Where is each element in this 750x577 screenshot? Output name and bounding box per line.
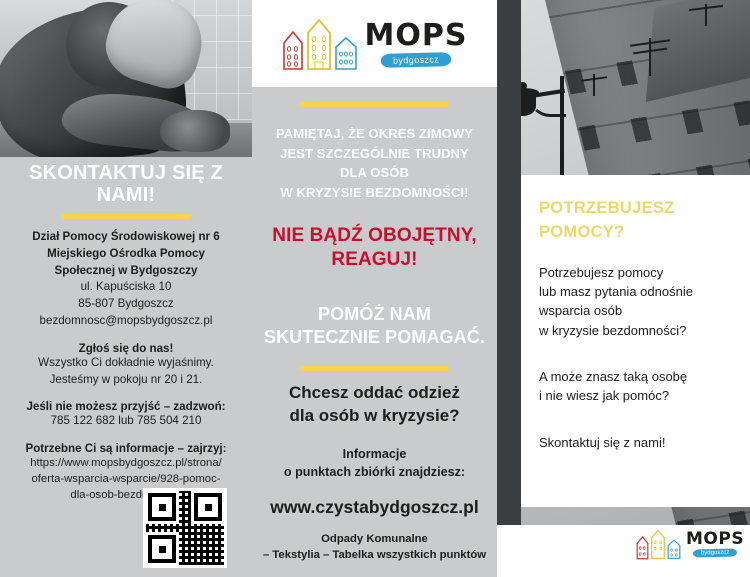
paragraph1-line-1: Potrzebujesz pomocy <box>539 263 693 282</box>
need-help-paragraph-3: Skontaktuj się z nami! <box>539 433 665 452</box>
mops-logo-bottom: MOPS bydgoszcz <box>636 528 744 560</box>
org-name-line-1: Dział Pomocy Środowiskowej nr 6 <box>0 229 252 246</box>
paragraph1-line-4: w kryzysie bezdomności? <box>539 321 693 340</box>
collection-info: Informacje o punktach zbiórki znajdziesz… <box>252 446 497 481</box>
org-name-line-2: Miejskiego Ośrodka Pomocy <box>0 246 252 263</box>
paragraph1-line-2: lub masz pytania odnośnie <box>539 282 693 301</box>
footnote-line-2: – Tekstylia – Tabelka wszystkich punktów <box>252 547 497 563</box>
house-red-icon <box>282 29 304 71</box>
qr-finder-bottom-left <box>148 535 176 563</box>
cta-line-2: REAGUJ! <box>252 248 497 272</box>
need-help-paragraph-2: A może znasz taką osobę i nie wiesz jak … <box>539 367 687 405</box>
spacer <box>0 388 252 400</box>
mops-city-banner-bottom: bydgoszcz <box>693 548 738 557</box>
clothes-donation-block: Chcesz oddać odzież dla osób w kryzysie?… <box>252 382 497 563</box>
mops-houses-icon-bottom <box>636 528 681 560</box>
cta-line-1: NIE BĄDŹ OBOJĘTNY, <box>252 224 497 248</box>
house-yellow-icon <box>305 17 333 71</box>
poster-root: SKONTAKTUJ SIĘ Z NAMI! Dział Pomocy Środ… <box>0 0 750 577</box>
footnote-line-1: Odpady Komunalne <box>252 531 497 547</box>
zglos-line-2: Jesteśmy w pokoju nr 20 i 21. <box>0 372 252 389</box>
yellow-divider-left <box>61 214 191 219</box>
org-name-line-3: Społecznej w Bydgoszczy <box>0 263 252 280</box>
address-email[interactable]: bezdomnosc@mopsbydgoszcz.pl <box>0 313 252 330</box>
mops-city-banner: bydgoszcz <box>381 52 451 68</box>
need-help-heading: POTRZEBUJESZ POMOCY? <box>539 197 675 245</box>
paragraph3-line-1: Skontaktuj się z nami! <box>539 433 665 452</box>
house-yellow-icon <box>650 528 666 560</box>
collection-info-line-1: Informacje <box>252 446 497 464</box>
photo-frame-left-bar <box>497 0 521 525</box>
mops-wordmark: MOPS <box>365 21 468 51</box>
reminder-text: PAMIĘTAJ, ŻE OKRES ZIMOWY JEST SZCZEGÓLN… <box>252 124 497 202</box>
help-line-2: SKUTECZNIE POMAGAĆ. <box>252 326 497 349</box>
need-help-heading-line-2: POMOCY? <box>539 221 675 245</box>
spacer <box>0 330 252 342</box>
clothes-heading: Chcesz oddać odzież dla osób w kryzysie? <box>252 382 497 428</box>
call-to-action-text: NIE BĄDŹ OBOJĘTNY, REAGUJ! <box>252 224 497 273</box>
house-blue-icon <box>334 35 358 71</box>
mops-wordmark-group: MOPS bydgoszcz <box>365 21 468 67</box>
house-blue-icon <box>667 538 681 560</box>
reminder-line-1: PAMIĘTAJ, ŻE OKRES ZIMOWY <box>252 124 497 144</box>
yellow-divider-center-bottom <box>299 366 449 371</box>
paragraph2-line-2: i nie wiesz jak pomóc? <box>539 386 687 405</box>
mops-wordmark-bottom: MOPS <box>686 531 744 548</box>
collection-info-line-2: o punktach zbiórki znajdziesz: <box>252 464 497 482</box>
qr-code[interactable] <box>143 488 227 568</box>
help-info-card: POTRZEBUJESZ POMOCY? Potrzebujesz pomocy… <box>521 175 750 507</box>
url-line-2[interactable]: oferta-wsparcia-wsparcie/928-pomoc- <box>0 471 252 487</box>
zglos-line-1: Wszystko Ci dokładnie wyjaśnimy. <box>0 355 252 372</box>
clothes-heading-line-1: Chcesz oddać odzież <box>252 382 497 405</box>
zglos-heading: Zgłoś się do nas! <box>0 342 252 355</box>
mops-wordmark-group-bottom: MOPS bydgoszcz <box>686 531 744 557</box>
czysta-bydgoszcz-website[interactable]: www.czystabydgoszcz.pl <box>252 497 497 518</box>
clothes-heading-line-2: dla osób w kryzysie? <box>252 405 497 428</box>
reminder-line-2: JEST SZCZEGÓLNIE TRUDNY <box>252 144 497 164</box>
paragraph1-line-3: wsparcia osób <box>539 301 693 320</box>
need-help-heading-line-1: POTRZEBUJESZ <box>539 197 675 221</box>
phone-numbers[interactable]: 785 122 682 lub 785 504 210 <box>0 413 252 430</box>
contact-heading: SKONTAKTUJ SIĘ Z NAMI! <box>0 162 252 206</box>
help-line-1: POMÓŻ NAM <box>252 303 497 326</box>
reminder-line-3: DLA OSÓB <box>252 163 497 183</box>
left-column: SKONTAKTUJ SIĘ Z NAMI! Dział Pomocy Środ… <box>0 0 252 577</box>
paragraph2-line-1: A może znasz taką osobę <box>539 367 687 386</box>
center-message-block: PAMIĘTAJ, ŻE OKRES ZIMOWY JEST SZCZEGÓLN… <box>252 124 497 349</box>
house-red-icon <box>636 535 649 560</box>
address-street: ul. Kapuściska 10 <box>0 279 252 296</box>
reminder-line-4: W KRYZYSIE BEZDOMNOŚCI! <box>252 183 497 203</box>
info-heading: Potrzebne Ci są informacje – zajrzyj: <box>0 442 252 455</box>
qr-code-pattern <box>146 491 224 565</box>
photo-man-hands <box>160 110 230 152</box>
logo-strip: MOPS bydgoszcz <box>252 0 497 87</box>
need-help-paragraph-1: Potrzebujesz pomocy lub masz pytania odn… <box>539 263 693 340</box>
yellow-divider-center-top <box>299 102 449 107</box>
roof-antenna-icon <box>649 38 651 76</box>
center-column: MOPS bydgoszcz PAMIĘTAJ, ŻE OKRES ZIMOWY… <box>252 0 497 577</box>
mops-logo: MOPS bydgoszcz <box>282 17 468 71</box>
address-city: 85-807 Bydgoszcz <box>0 296 252 313</box>
phone-heading: Jeśli nie możesz przyjść – zadzwoń: <box>0 400 252 413</box>
spacer <box>0 430 252 442</box>
right-column: POTRZEBUJESZ POMOCY? Potrzebujesz pomocy… <box>497 0 750 577</box>
waste-footnote: Odpady Komunalne – Tekstylia – Tabelka w… <box>252 531 497 563</box>
help-us-text: POMÓŻ NAM SKUTECZNIE POMAGAĆ. <box>252 303 497 350</box>
left-content: SKONTAKTUJ SIĘ Z NAMI! Dział Pomocy Środ… <box>0 157 252 503</box>
url-line-1[interactable]: https://www.mopsbydgoszcz.pl/strona/ <box>0 455 252 471</box>
mops-houses-icon <box>282 17 358 71</box>
homeless-man-photo <box>0 0 252 157</box>
